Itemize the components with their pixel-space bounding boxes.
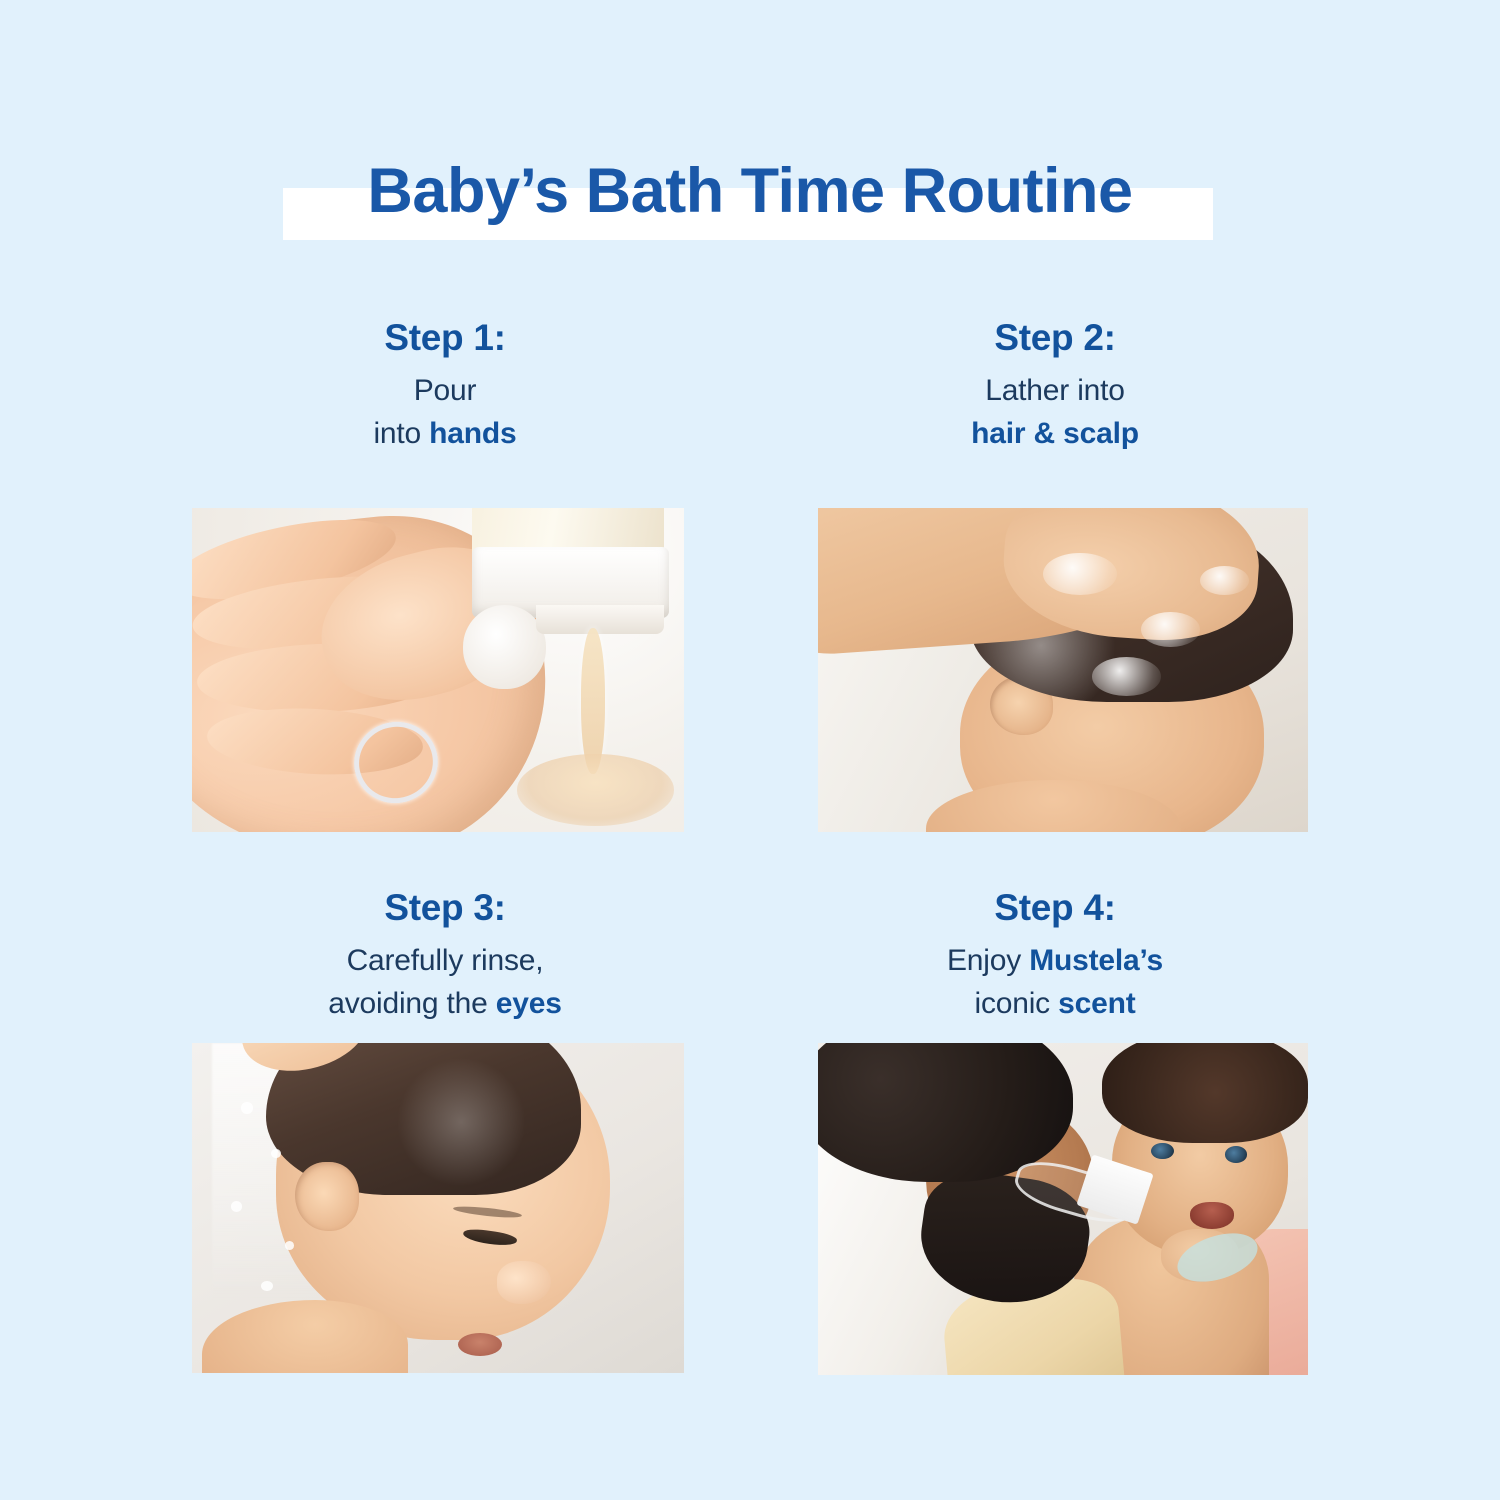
step-3-photo	[192, 1043, 684, 1373]
step-3-line-2-emphasis: eyes	[496, 987, 562, 1020]
step-2-text-block: Step 2: Lather into hair & scalp	[795, 318, 1315, 455]
step-2-heading: Step 2:	[795, 318, 1315, 358]
step-4-line-1-emphasis: Mustela’s	[1029, 944, 1163, 977]
baby-ear	[295, 1162, 359, 1231]
step-1-line-1-text: Pour	[414, 374, 477, 407]
baby-eye	[1225, 1146, 1248, 1163]
step-3-line-2-text: avoiding the	[328, 987, 496, 1020]
step-3-line-2: avoiding the eyes	[185, 983, 705, 1026]
baby-open-mouth	[1190, 1202, 1234, 1229]
page-title: Baby’s Bath Time Routine	[0, 155, 1500, 227]
step-1-line-1: Pour	[185, 370, 705, 413]
step-3-text-block: Step 3: Carefully rinse, avoiding the ey…	[185, 888, 705, 1025]
step-4-line-2: iconic scent	[795, 983, 1315, 1026]
step-4-line-1-text: Enjoy	[947, 944, 1029, 977]
step-1-line-2-text: into	[373, 417, 429, 450]
step-3-line-1-text: Carefully rinse,	[347, 944, 544, 977]
step-4-photo	[818, 1043, 1308, 1375]
water-droplet	[261, 1281, 273, 1292]
step-4-line-2-text: iconic	[974, 987, 1058, 1020]
step-1-line-2-emphasis: hands	[429, 417, 516, 450]
suds-highlight	[1092, 657, 1161, 696]
step-1-photo	[192, 508, 684, 832]
step-4-line-2-emphasis: scent	[1058, 987, 1135, 1020]
water-droplet	[285, 1241, 294, 1250]
gel-pool	[517, 754, 674, 825]
pump-spout	[536, 605, 664, 634]
step-3-heading: Step 3:	[185, 888, 705, 928]
step-2-line-2: hair & scalp	[795, 413, 1315, 456]
step-1-line-2: into hands	[185, 413, 705, 456]
step-2-line-1: Lather into	[795, 370, 1315, 413]
step-2-photo	[818, 508, 1308, 832]
water-droplet	[271, 1149, 281, 1159]
baby-eye	[1151, 1143, 1174, 1160]
step-4-text-block: Step 4: Enjoy Mustela’s iconic scent	[795, 888, 1315, 1025]
gel-stream	[581, 628, 606, 774]
step-1-heading: Step 1:	[185, 318, 705, 358]
pump-nozzle	[463, 605, 547, 689]
step-4-heading: Step 4:	[795, 888, 1315, 928]
step-1-text-block: Step 1: Pour into hands	[185, 318, 705, 455]
water-droplet	[241, 1102, 253, 1113]
step-3-line-1: Carefully rinse,	[185, 940, 705, 983]
baby-curly-hair	[1102, 1043, 1308, 1143]
step-4-line-1: Enjoy Mustela’s	[795, 940, 1315, 983]
step-2-line-1-text: Lather into	[985, 374, 1125, 407]
infographic-root: Baby’s Bath Time Routine Step 1: Pour in…	[0, 0, 1500, 1500]
suds-highlight	[1141, 612, 1200, 648]
